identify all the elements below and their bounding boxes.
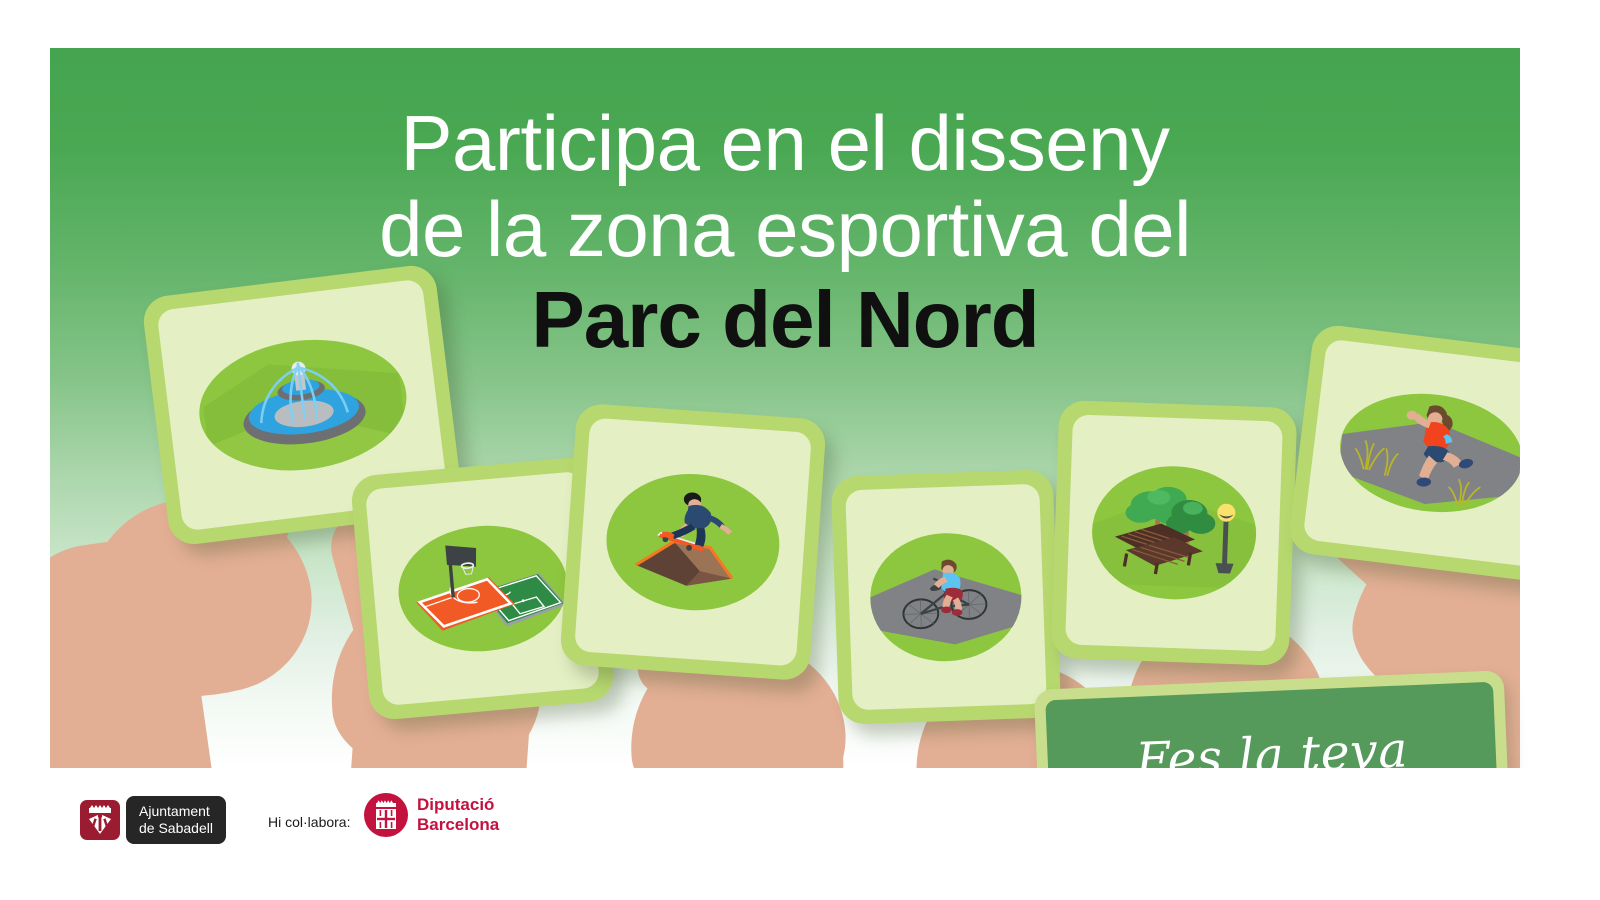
diputacio-logo[interactable]: Diputació Barcelona [364,793,499,837]
card-ground-ellipse [868,531,1024,664]
card-ground-ellipse [191,328,413,481]
fountain-icon [191,328,413,481]
card-running-track[interactable] [1287,323,1520,583]
card-ground-ellipse [1090,463,1258,602]
diputacio-name: Diputació Barcelona [417,795,499,835]
sabadell-crest-icon [80,800,120,840]
card-bike-path[interactable] [831,469,1062,725]
sabadell-name: Ajuntament de Sabadell [126,796,226,844]
sabadell-logo[interactable]: Ajuntament de Sabadell [80,796,226,844]
title-line-2: de la zona esportiva del [50,186,1520,272]
park-bench-icon [1090,463,1258,602]
footer-logos: Ajuntament de Sabadell Hi col·labora: [0,768,1600,900]
card-ground-ellipse [602,468,784,615]
runner-icon [1333,384,1520,523]
card-ground-ellipse [1333,384,1520,523]
sports-court-icon [393,518,573,658]
card-park-bench[interactable] [1051,400,1298,666]
skateboarder-icon [602,468,784,615]
poster-stage: Participa en el disseny de la zona espor… [0,0,1600,900]
title-line-1: Participa en el disseny [50,100,1520,186]
card-ground-ellipse [393,518,573,658]
collaborator-label: Hi col·labora: [268,814,350,830]
diputacio-crest-icon [364,793,408,837]
card-skatepark[interactable] [559,403,827,682]
banner-artwork: Participa en el disseny de la zona espor… [50,48,1520,768]
cyclist-icon [868,531,1024,664]
